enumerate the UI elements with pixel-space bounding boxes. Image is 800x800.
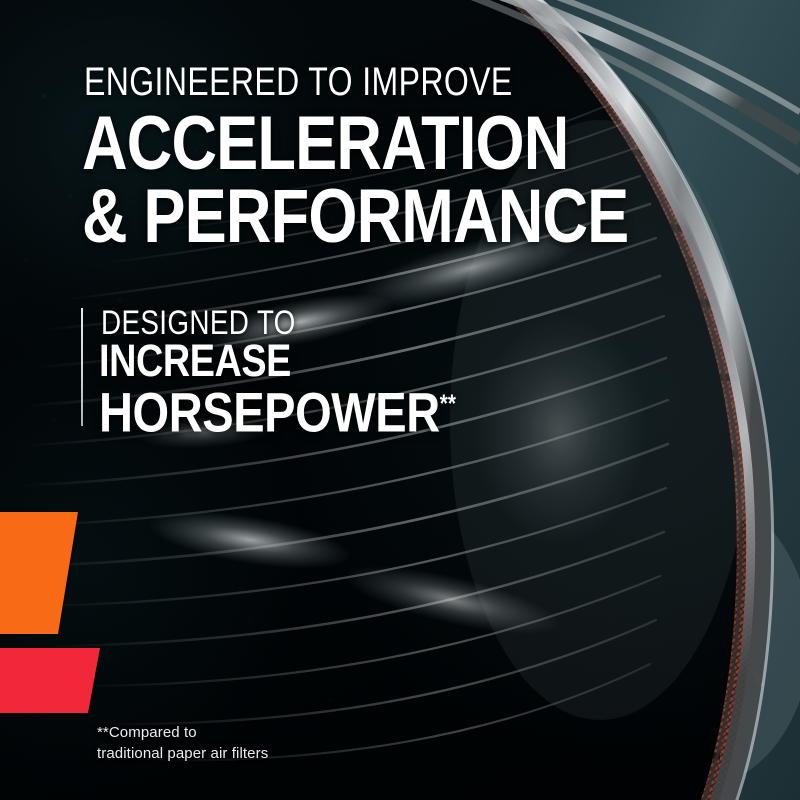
- footnote-line-1: **Compared to: [97, 722, 268, 743]
- footnote: **Compared to traditional paper air filt…: [97, 722, 268, 764]
- footnote-marker: **: [440, 391, 456, 418]
- headline-eyebrow: ENGINEERED TO IMPROVE: [84, 62, 513, 102]
- headline-line-2: & PERFORMANCE: [82, 179, 628, 255]
- footnote-line-2: traditional paper air filters: [97, 743, 268, 764]
- red-chevron: [0, 648, 120, 713]
- subheadline-line-2-text: HORSEPOWER: [99, 381, 440, 444]
- banner-canvas: ENGINEERED TO IMPROVE ACCELERATION & PER…: [0, 0, 800, 800]
- orange-chevron: [0, 512, 110, 634]
- subheadline-line-2: HORSEPOWER**: [99, 377, 456, 441]
- headline-line-1: ACCELERATION: [82, 106, 568, 182]
- subheadline-vertical-rule: [81, 308, 83, 426]
